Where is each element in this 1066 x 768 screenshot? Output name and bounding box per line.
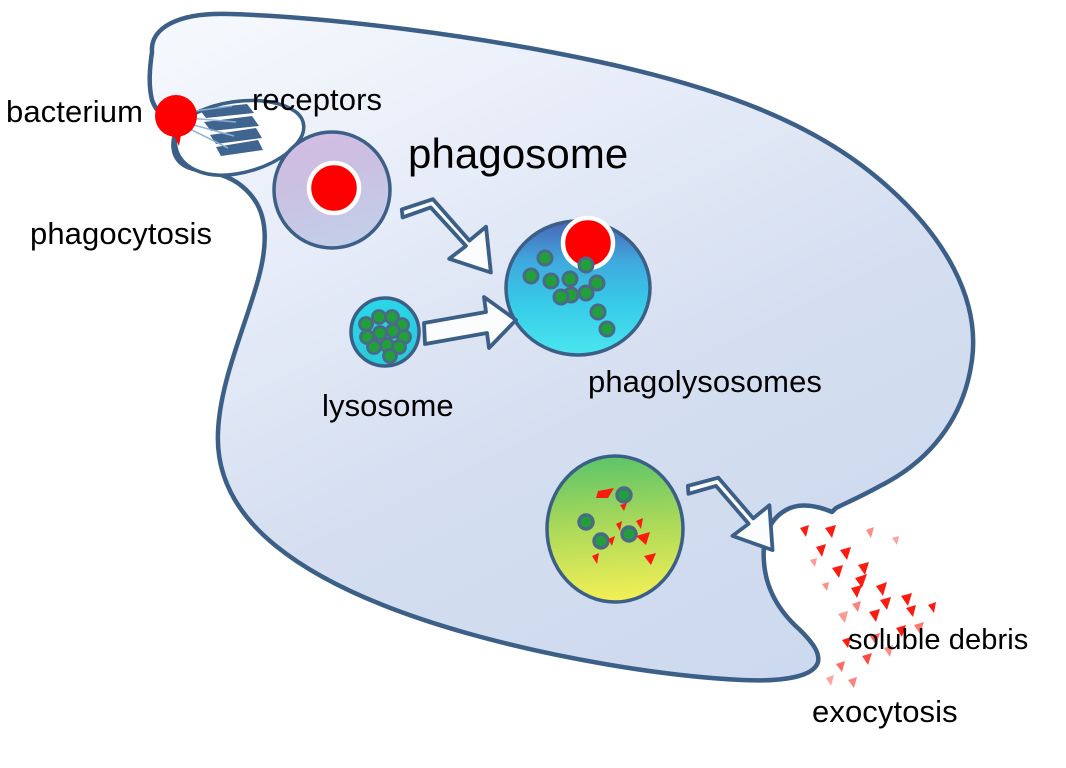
- label-phagolysosomes: phagolysosomes: [588, 366, 822, 397]
- phagosome-bacterium: [309, 163, 359, 213]
- phagolysosome-vesicle: [506, 218, 650, 355]
- soluble-debris-particles: [800, 525, 936, 688]
- residual-body-vesicle: [547, 456, 683, 602]
- label-bacterium: bacterium: [6, 96, 143, 127]
- lysosome-vesicle: [351, 298, 419, 366]
- diagram-canvas: bacterium receptors phagocytosis phagoso…: [0, 0, 1066, 768]
- label-phagosome: phagosome: [408, 133, 628, 175]
- label-soluble-debris: soluble debris: [848, 626, 1028, 655]
- label-receptors: receptors: [252, 84, 382, 115]
- label-lysosome: lysosome: [322, 390, 454, 421]
- label-phagocytosis: phagocytosis: [30, 218, 212, 249]
- label-exocytosis: exocytosis: [812, 696, 958, 727]
- phagosome-vesicle: [274, 132, 390, 248]
